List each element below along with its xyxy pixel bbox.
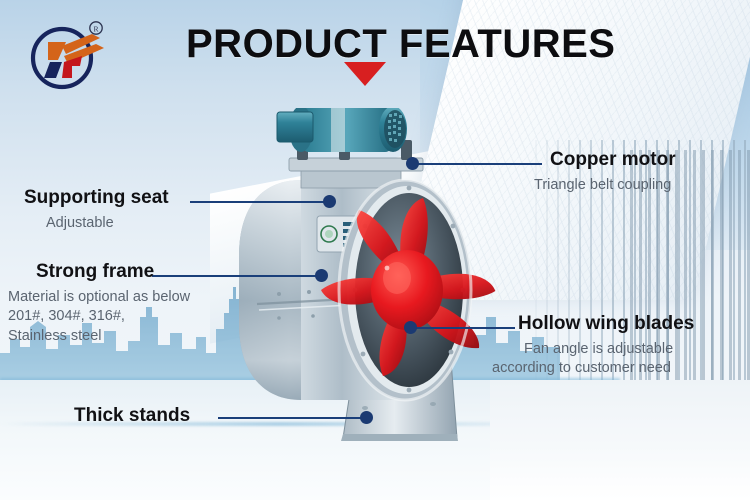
leader-dot-thick-stands xyxy=(360,411,373,424)
infographic-canvas: R PRODUCT FEATURES xyxy=(0,0,750,500)
callout-line-strong-frame-1: 201#, 304#, 316#, xyxy=(8,307,190,327)
kr-company-logo: R xyxy=(22,16,110,92)
leader-line-copper-motor xyxy=(410,163,542,165)
callout-heading-strong-frame: Strong frame xyxy=(36,262,190,283)
leader-dot-hollow-wing-blades xyxy=(404,321,417,334)
callout-heading-supporting-seat: Supporting seat xyxy=(24,188,169,209)
page-title: PRODUCT FEATURES xyxy=(186,22,615,67)
callout-heading-hollow-wing-blades: Hollow wing blades xyxy=(518,314,694,335)
callout-line-copper-motor-0: Triangle belt coupling xyxy=(534,176,676,196)
callout-strong-frame: Strong frame Material is optional as bel… xyxy=(36,262,190,347)
leader-line-supporting-seat xyxy=(190,201,330,203)
callout-line-strong-frame-2: Stainless steel xyxy=(8,327,190,347)
leader-dot-copper-motor xyxy=(406,157,419,170)
svg-text:R: R xyxy=(93,24,99,33)
electric-motor xyxy=(277,108,423,171)
registered-trademark-icon: R xyxy=(90,22,102,34)
title-arrow-icon xyxy=(344,62,386,86)
callout-thick-stands: Thick stands xyxy=(74,406,190,427)
callout-heading-thick-stands: Thick stands xyxy=(74,406,190,427)
callout-line-hollow-wing-blades-1: according to customer need xyxy=(492,359,694,379)
leader-dot-supporting-seat xyxy=(323,195,336,208)
leader-line-hollow-wing-blades xyxy=(410,327,515,329)
callout-heading-copper-motor: Copper motor xyxy=(550,150,676,171)
callout-supporting-seat: Supporting seat Adjustable xyxy=(24,188,169,233)
callout-line-strong-frame-0: Material is optional as below xyxy=(8,288,190,308)
callout-copper-motor: Copper motor Triangle belt coupling xyxy=(550,150,676,195)
motor-cooling-grille xyxy=(384,110,406,148)
callout-hollow-wing-blades: Hollow wing blades Fan angle is adjustab… xyxy=(518,314,694,379)
leader-line-thick-stands xyxy=(218,417,366,419)
callout-line-supporting-seat-0: Adjustable xyxy=(46,214,169,234)
leader-dot-strong-frame xyxy=(315,269,328,282)
callout-line-hollow-wing-blades-0: Fan angle is adjustable xyxy=(524,340,694,360)
axial-flow-fan-image xyxy=(205,108,555,458)
